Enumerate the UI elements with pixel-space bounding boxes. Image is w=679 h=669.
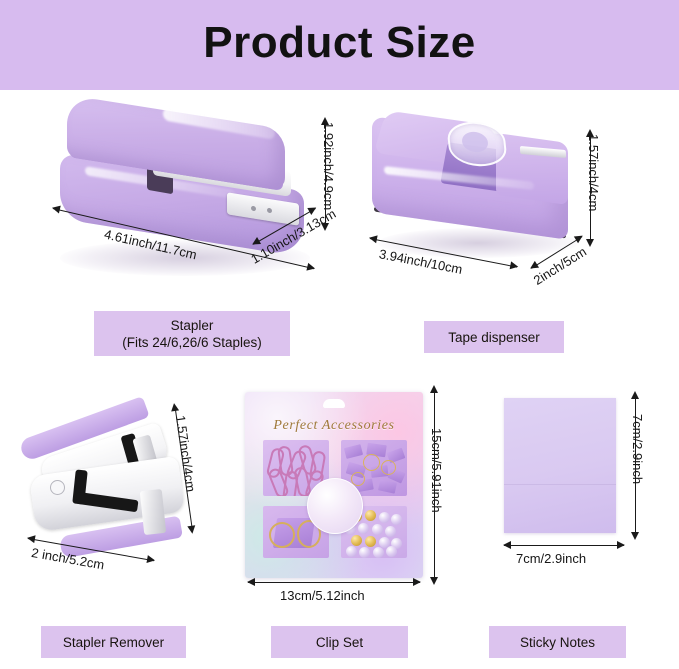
clip-set-illustration: Perfect Accessories [245, 392, 423, 578]
sticky-note-pad [504, 398, 616, 533]
sticky-notes-width-label: 7cm/2.9inch [516, 551, 586, 566]
clip-set-center-badge [307, 478, 363, 534]
sticky-notes-illustration [504, 398, 616, 533]
header-banner: Product Size [0, 0, 679, 90]
clip-set-hang-hole [323, 399, 345, 408]
tape-dispenser-head [496, 133, 568, 205]
clip-set-caption-line1: Clip Set [316, 634, 363, 651]
stapler-remover-pivot [50, 480, 65, 495]
stapler-anvil-dot [251, 206, 256, 212]
stapler-caption-line1: Stapler [122, 317, 262, 334]
stapler-caption-line2: (Fits 24/6,26/6 Staples) [122, 334, 262, 351]
stapler-remover-jaw-lower-metal [140, 489, 166, 535]
stapler-anvil-dot [267, 208, 272, 214]
clip-set-width-label: 13cm/5.12inch [280, 588, 365, 603]
tape-dispenser-illustration [372, 112, 587, 262]
stapler-caption: Stapler (Fits 24/6,26/6 Staples) [94, 311, 290, 356]
tape-dispenser-caption-line1: Tape dispenser [448, 329, 540, 346]
stapler-height-label: 1.92inch/4.9cm [321, 122, 336, 210]
sticky-notes-caption-line1: Sticky Notes [520, 634, 595, 651]
product-size-infographic: Product Size 4.61inch/11.7cm 1.10inch/3.… [0, 0, 679, 669]
tape-dispenser-caption: Tape dispenser [424, 321, 564, 353]
clip-set-package-title: Perfect Accessories [245, 418, 423, 434]
tape-dispenser-height-label: 1.57inch/4cm [586, 134, 601, 211]
large-binder-clip-arm [269, 522, 295, 548]
sticky-notes-height-label: 7cm/2.9inch [630, 414, 645, 484]
page-title: Product Size [0, 0, 679, 90]
sticky-notes-caption: Sticky Notes [489, 626, 626, 658]
clip-set-height-label: 15cm/5.91inch [429, 428, 444, 513]
stapler-remover-caption: Stapler Remover [41, 626, 186, 658]
sticky-note-fold-line [504, 484, 616, 485]
clip-set-caption: Clip Set [271, 626, 408, 658]
stapler-remover-caption-line1: Stapler Remover [63, 634, 164, 651]
